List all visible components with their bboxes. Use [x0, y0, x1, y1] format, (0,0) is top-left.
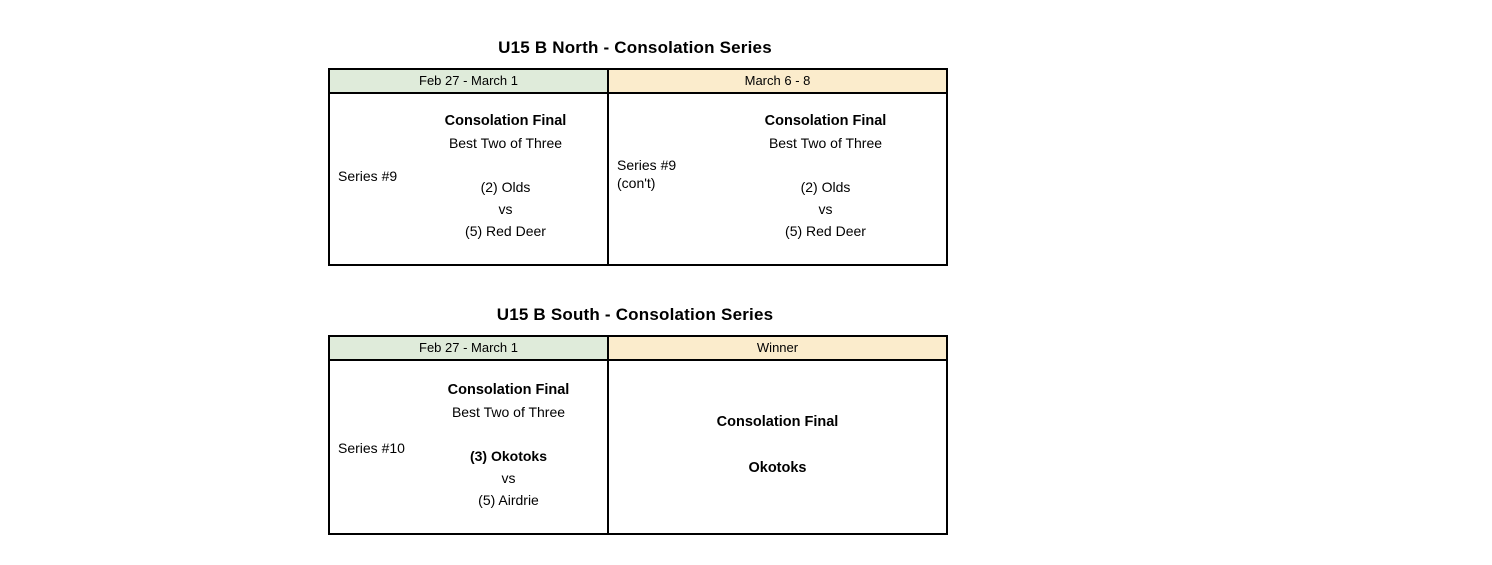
team-bottom: (5) Red Deer	[715, 220, 936, 242]
team-top: (3) Okotoks	[416, 445, 601, 467]
matchup-spacer	[410, 154, 601, 176]
series-cell-9-round2: Series #9 (con't) Consolation Final Best…	[608, 93, 947, 265]
matchup-format: Best Two of Three	[410, 132, 601, 154]
winner-title: Consolation Final	[609, 411, 946, 433]
series-label-10: Series #10	[338, 439, 405, 457]
winner-team: Okotoks	[609, 457, 946, 479]
team-top: (2) Olds	[410, 176, 601, 198]
matchup-format: Best Two of Three	[715, 132, 936, 154]
bracket-north-title: U15 B North - Consolation Series	[328, 38, 942, 58]
versus-label: vs	[416, 467, 601, 489]
table-header-row: Feb 27 - March 1 Winner	[329, 336, 947, 360]
table-row: Series #9 Consolation Final Best Two of …	[329, 93, 947, 265]
winner-block: Consolation Final Okotoks	[609, 411, 946, 479]
matchup-title: Consolation Final	[416, 379, 601, 401]
matchup-block-series10: Consolation Final Best Two of Three (3) …	[416, 379, 601, 511]
team-bottom: (5) Red Deer	[410, 220, 601, 242]
table-row: Series #10 Consolation Final Best Two of…	[329, 360, 947, 534]
series-cell-9-round1: Series #9 Consolation Final Best Two of …	[329, 93, 608, 265]
versus-label: vs	[410, 198, 601, 220]
bracket-south-title: U15 B South - Consolation Series	[328, 305, 942, 325]
table-header-row: Feb 27 - March 1 March 6 - 8	[329, 69, 947, 93]
bracket-north-table: Feb 27 - March 1 March 6 - 8 Series #9 C…	[328, 68, 948, 266]
matchup-title: Consolation Final	[410, 110, 601, 132]
matchup-spacer	[715, 154, 936, 176]
round-header-winner: Winner	[608, 336, 947, 360]
bracket-south-table: Feb 27 - March 1 Winner Series #10 Conso…	[328, 335, 948, 535]
winner-spacer	[609, 433, 946, 457]
bracket-north: U15 B North - Consolation Series Feb 27 …	[328, 38, 942, 266]
series-label-9-cont: Series #9 (con't)	[617, 156, 676, 192]
series-label-9: Series #9	[338, 167, 397, 185]
team-bottom: (5) Airdrie	[416, 489, 601, 511]
versus-label: vs	[715, 198, 936, 220]
matchup-block-series9-cont: Consolation Final Best Two of Three (2) …	[715, 110, 936, 242]
round-header-feb27-march1: Feb 27 - March 1	[329, 336, 608, 360]
matchup-spacer	[416, 423, 601, 445]
team-top: (2) Olds	[715, 176, 936, 198]
winner-cell: Consolation Final Okotoks	[608, 360, 947, 534]
bracket-south: U15 B South - Consolation Series Feb 27 …	[328, 305, 942, 535]
round-header-march6-8: March 6 - 8	[608, 69, 947, 93]
round-header-feb27-march1: Feb 27 - March 1	[329, 69, 608, 93]
series-cell-10-round1: Series #10 Consolation Final Best Two of…	[329, 360, 608, 534]
matchup-format: Best Two of Three	[416, 401, 601, 423]
matchup-block-series9: Consolation Final Best Two of Three (2) …	[410, 110, 601, 242]
matchup-title: Consolation Final	[715, 110, 936, 132]
